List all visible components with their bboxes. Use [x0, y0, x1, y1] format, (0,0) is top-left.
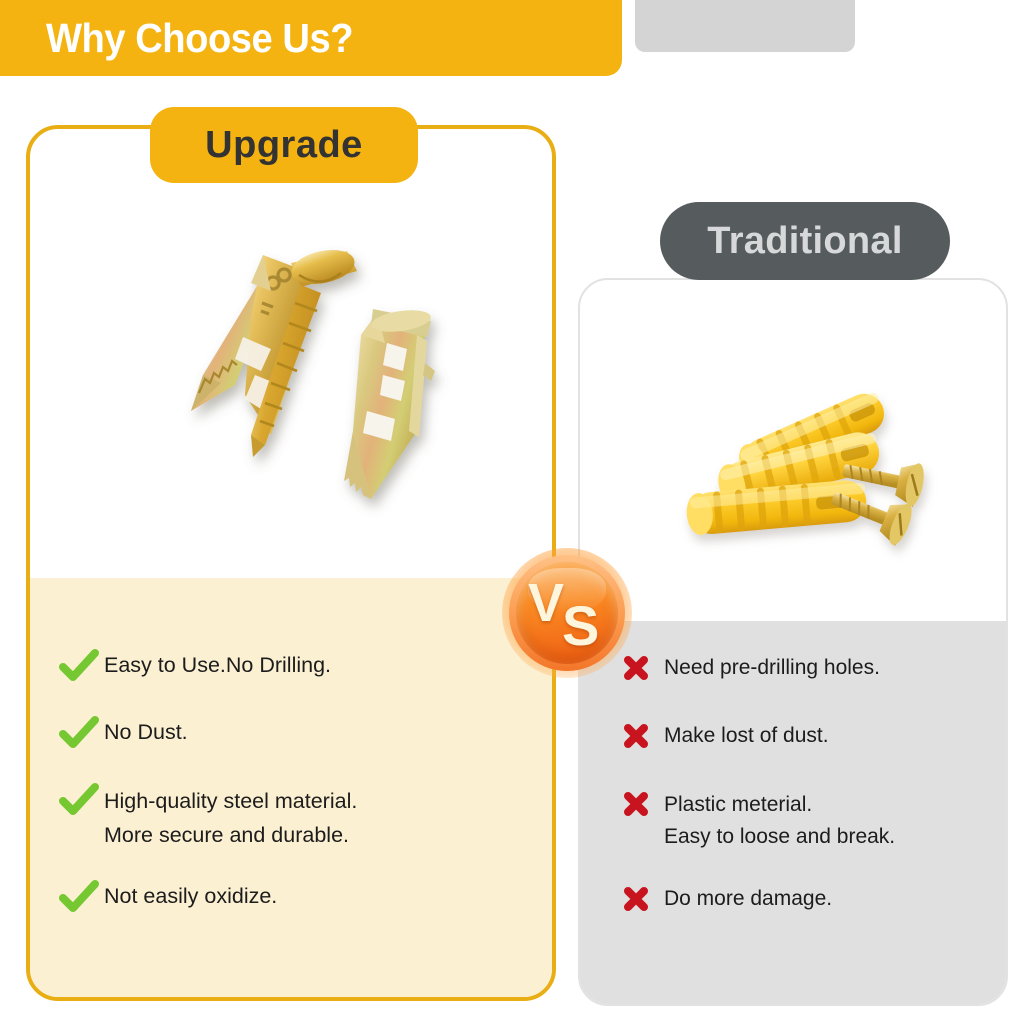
traditional-badge-label: Traditional	[707, 220, 902, 263]
vs-letter-s: S	[562, 598, 599, 654]
list-item: Not easily oxidize.	[58, 879, 498, 919]
upgrade-badge-label: Upgrade	[205, 124, 363, 167]
list-item: Do more damage.	[622, 881, 982, 921]
infographic-canvas: Why Choose Us?	[0, 0, 1024, 1024]
list-item-label: Not easily oxidize.	[104, 879, 277, 911]
list-item-label: Do more damage.	[664, 881, 832, 914]
cross-icon	[622, 650, 664, 690]
list-item: No Dust.	[58, 715, 498, 755]
vs-letter-v: V	[528, 576, 564, 630]
cross-icon	[622, 718, 664, 758]
list-item: Need pre-drilling holes.	[622, 650, 982, 690]
decorative-gray-block	[635, 0, 855, 52]
header-banner: Why Choose Us?	[0, 0, 622, 76]
list-item: Plastic meterial. Easy to loose and brea…	[622, 786, 982, 853]
list-item: High-quality steel material. More secure…	[58, 782, 498, 852]
list-item-label: High-quality steel material. More secure…	[104, 782, 357, 852]
check-icon	[58, 879, 104, 919]
cross-icon	[622, 786, 664, 826]
plastic-plug-product-image	[620, 330, 970, 570]
list-item: Easy to Use.No Drilling.	[58, 648, 498, 688]
list-item-label: Plastic meterial. Easy to loose and brea…	[664, 786, 895, 853]
check-icon	[58, 782, 104, 822]
upgrade-badge: Upgrade	[150, 107, 418, 183]
list-item-label: Easy to Use.No Drilling.	[104, 648, 331, 680]
check-icon	[58, 715, 104, 755]
list-item-label: No Dust.	[104, 715, 188, 747]
check-icon	[58, 648, 104, 688]
list-item-label: Need pre-drilling holes.	[664, 650, 880, 683]
vs-badge: V S	[502, 548, 632, 678]
page-title: Why Choose Us?	[46, 15, 353, 62]
upgrade-feature-list: Easy to Use.No Drilling. No Dust. High-q…	[58, 648, 498, 946]
cross-icon	[622, 881, 664, 921]
traditional-badge: Traditional	[660, 202, 950, 280]
list-item: Make lost of dust.	[622, 718, 982, 758]
list-item-label: Make lost of dust.	[664, 718, 829, 751]
metal-anchor-product-image	[95, 225, 475, 545]
traditional-feature-list: Need pre-drilling holes. Make lost of du…	[622, 650, 982, 949]
